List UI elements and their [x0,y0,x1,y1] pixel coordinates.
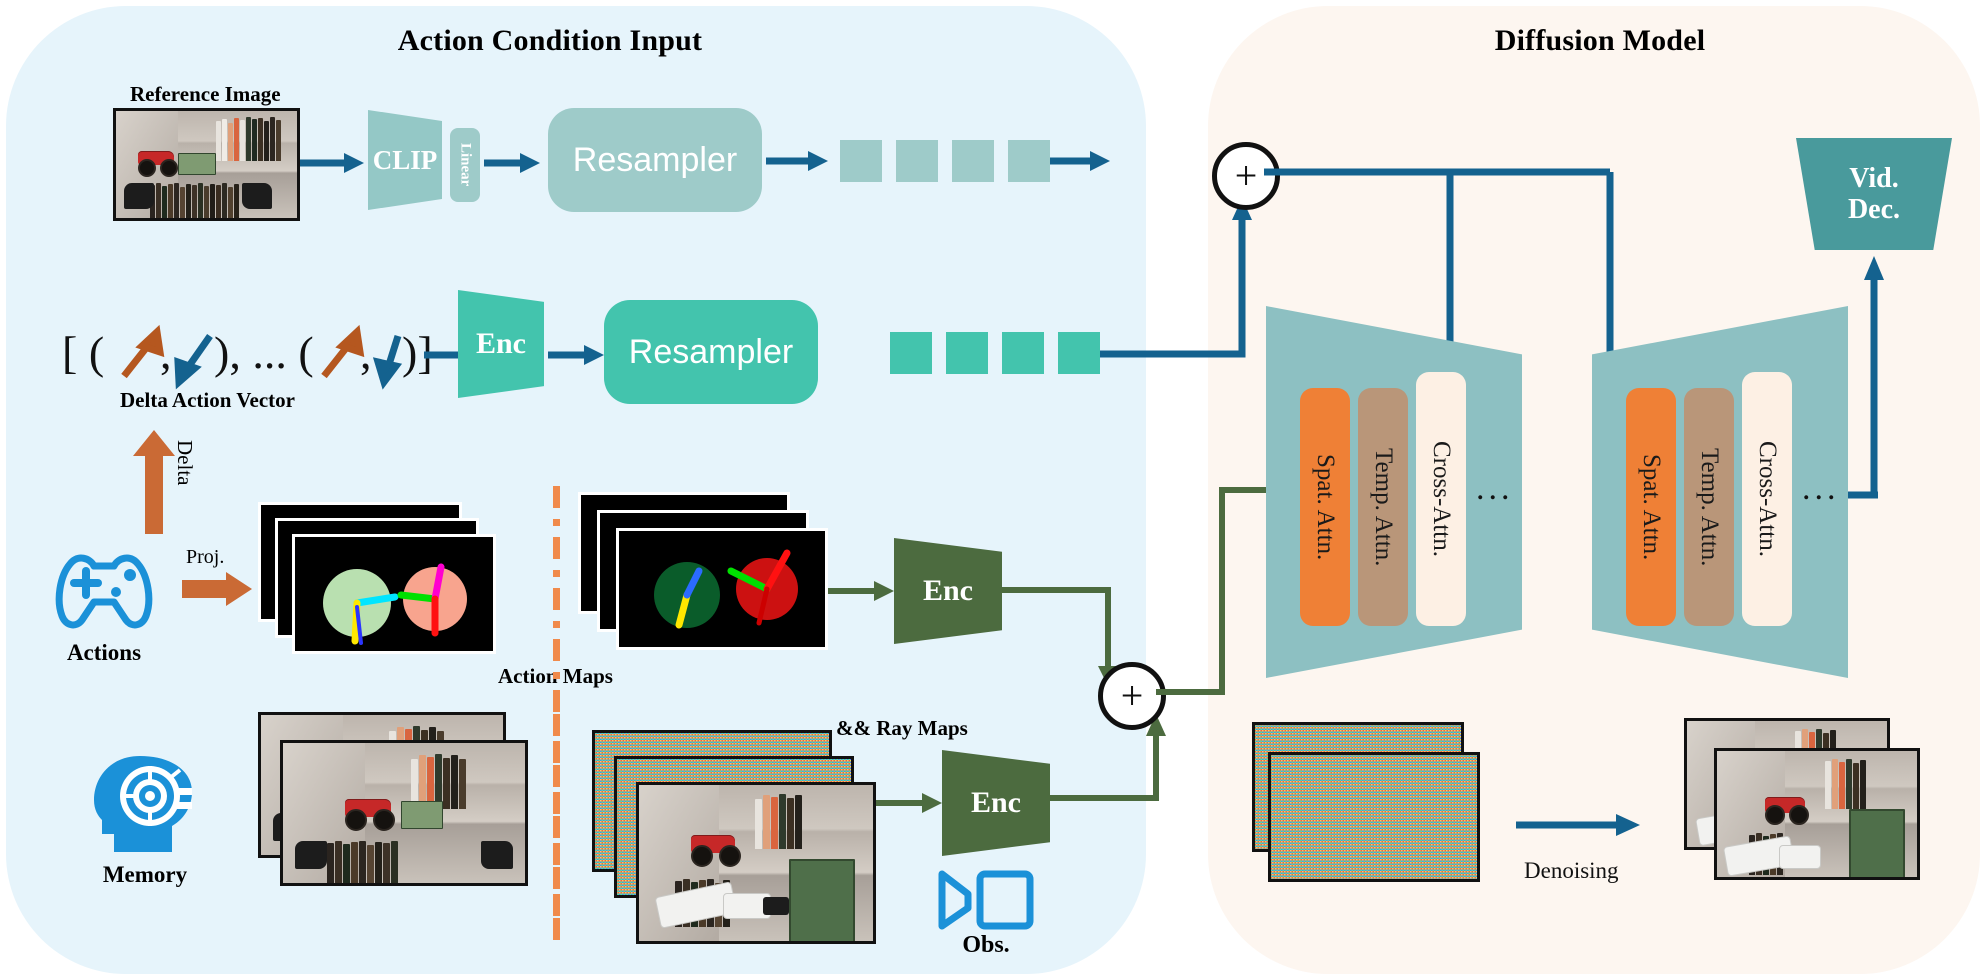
delta-action-vector-formula: [ ( , ), ... ( , )] [62,318,422,388]
resampler-block-action: Resampler [604,300,818,404]
obs-encoder-block: Enc [942,750,1050,856]
proj-arrow [182,572,252,606]
arrow-obsenc-to-sum [1048,712,1172,804]
arrow-refimg-to-clip [300,150,364,176]
resampler-2-label: Resampler [604,300,818,404]
action-map-frame-front [292,534,496,654]
action-token-4 [1058,332,1100,374]
arrow-linear-to-resampler [484,150,540,176]
sum-bottom-symbol: + [1121,676,1144,716]
image-token-1 [840,140,882,182]
actions-label: Actions [48,640,160,666]
memory-label: Memory [70,862,220,888]
linear-block: Linear [450,128,480,202]
arrow-enc-to-resampler2 [548,342,604,368]
video-decoder-block: Vid. Dec. [1796,138,1952,250]
image-token-4 [1008,140,1050,182]
denoise-input-frame-front [1268,752,1480,882]
video-decoder-label-line2: Dec. [1848,194,1900,225]
linear-label: Linear [457,143,474,186]
ellipsis-up-block: ... [1802,470,1840,508]
arrow-raymaps-to-enc [828,578,894,604]
arrow-obs-to-enc [876,790,942,816]
delta-arrow-label: Delta [172,440,197,491]
ray-encoder-block: Enc [894,538,1002,644]
image-token-2 [896,140,938,182]
action-encoder-block: Enc [458,290,544,398]
delta-arrow [133,430,175,534]
image-token-3 [952,140,994,182]
action-token-3 [1002,332,1044,374]
svg-text:[ (: [ ( [62,327,104,378]
proj-label: Proj. [186,546,224,569]
denoising-label: Denoising [1524,858,1619,884]
memory-brain-icon [88,752,196,858]
action-encoder-label: Enc [458,290,544,398]
arrow-action-tokens-to-sum-top [1096,190,1256,360]
separator-dashdot-right [553,714,560,942]
cross-attn-block-1: Cross-Attn. [1416,372,1466,626]
delta-action-vector-label: Delta Action Vector [120,388,295,413]
gamepad-icon [48,552,160,634]
spat-attn-block-1: Spat. Attn. [1300,388,1350,626]
svg-text:,: , [360,327,372,378]
reference-image [113,108,300,221]
obs-label: Obs. [928,932,1044,959]
arrow-tokens-to-sum-top [1050,148,1110,174]
arrow-unet-to-viddec [1852,246,1962,496]
denoise-output-frame-front [1714,748,1920,880]
ray-map-frame-front [616,528,828,650]
camera-icon [938,868,1034,932]
resampler-block-image: Resampler [548,108,762,212]
sum-top-symbol: + [1235,156,1258,196]
panel-title-diffusion-model: Diffusion Model [1400,24,1800,58]
ellipsis-down-block: ... [1476,470,1514,508]
spat-attn-block-2: Spat. Attn. [1626,388,1676,626]
video-decoder-label-line1: Vid. [1849,163,1899,194]
panel-title-action-condition-input: Action Condition Input [330,24,770,58]
obs-frame-front [636,782,876,944]
clip-label: CLIP [368,110,442,210]
resampler-1-label: Resampler [548,108,762,212]
clip-encoder-block: CLIP [368,110,442,210]
arrow-denoising [1516,812,1640,838]
temp-attn-block-2: Temp. Attn. [1684,388,1734,626]
ray-maps-label: && Ray Maps [836,716,968,741]
memory-frame-front [280,740,528,886]
arrow-resampler1-to-tokens [766,148,828,174]
action-token-2 [946,332,988,374]
obs-encoder-label: Enc [942,750,1050,856]
cross-attn-block-2: Cross-Attn. [1742,372,1792,626]
ray-encoder-label: Enc [894,538,1002,644]
temp-attn-block-1: Temp. Attn. [1358,388,1408,626]
svg-text:), ... (: ), ... ( [214,327,314,378]
reference-image-label: Reference Image [130,82,281,107]
svg-text:,: , [160,327,172,378]
action-token-1 [890,332,932,374]
